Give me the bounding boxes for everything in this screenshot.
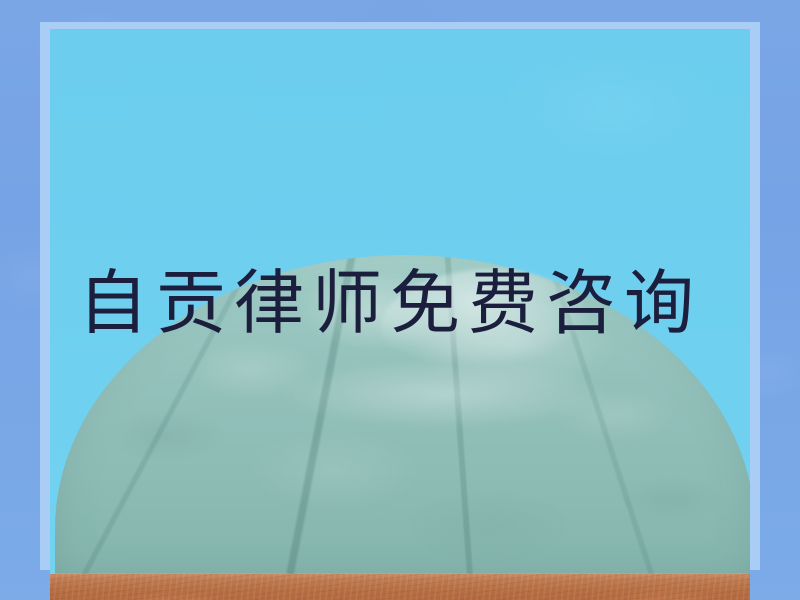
terracotta-base-rock <box>50 574 750 600</box>
image-card: 自贡律师免费咨询 <box>0 0 800 600</box>
headline-text: 自贡律师免费咨询 <box>78 268 702 338</box>
